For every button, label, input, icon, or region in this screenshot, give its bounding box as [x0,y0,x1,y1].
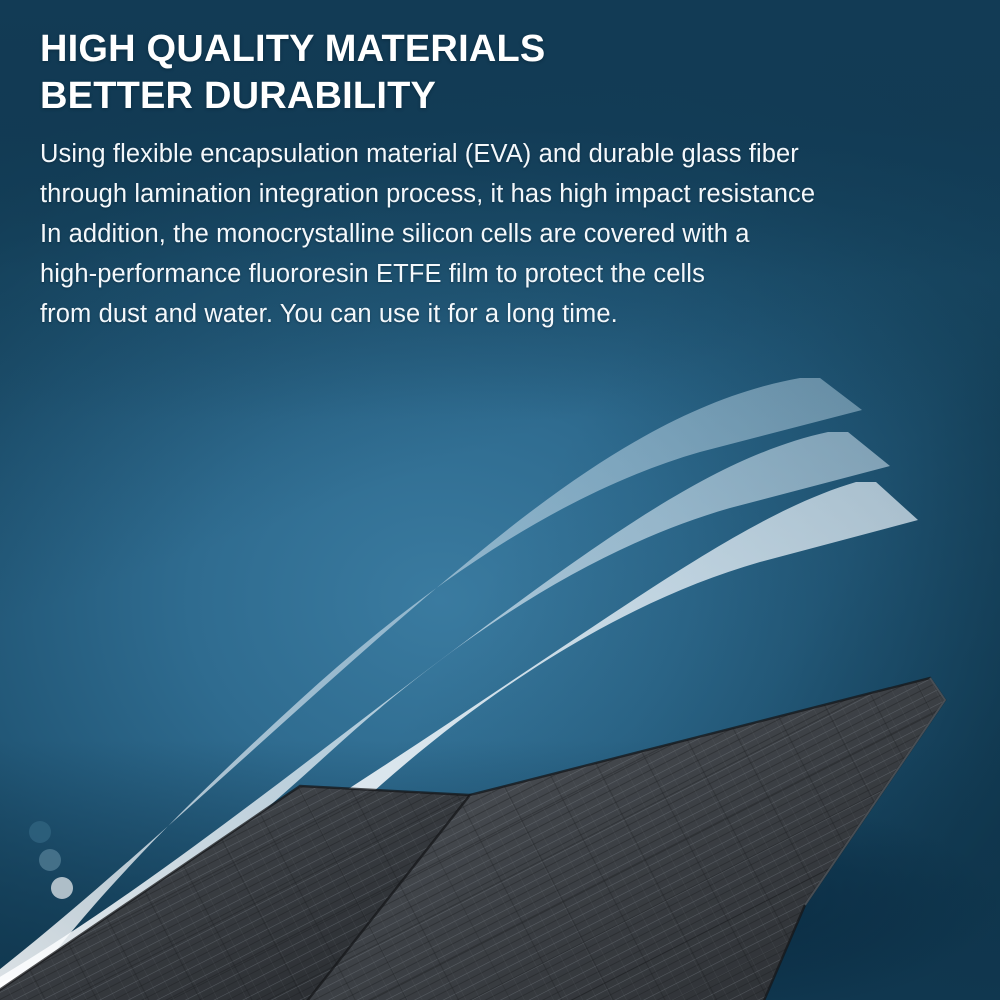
promo-banner: HIGH QUALITY MATERIALS BETTER DURABILITY… [0,0,1000,1000]
grommet-bottom [51,877,73,899]
description-paragraph: Using flexible encapsulation material (E… [40,134,970,334]
grommet-group [29,821,73,899]
grommet-middle [39,849,61,871]
grommet-top [29,821,51,843]
page-title: HIGH QUALITY MATERIALS BETTER DURABILITY [40,26,970,120]
copy-block: HIGH QUALITY MATERIALS BETTER DURABILITY… [40,26,970,334]
